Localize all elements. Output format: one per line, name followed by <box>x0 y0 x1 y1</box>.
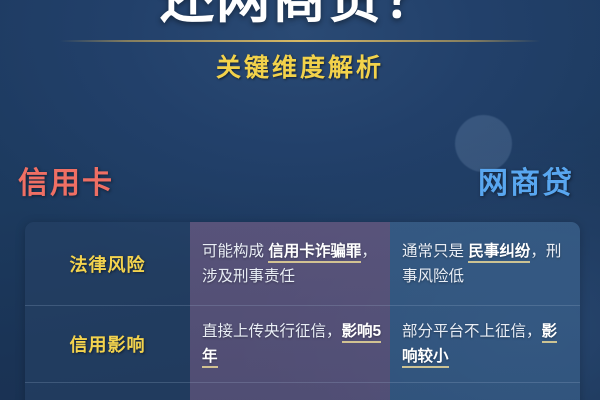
side-label-wangshangdai: 网商贷 <box>478 158 574 202</box>
cell-text-plain: 部分平台不上征信， <box>402 323 542 340</box>
table-row: 利率普遍 <box>25 382 580 400</box>
row-label: 法律风险 <box>25 251 190 277</box>
cell-credit-card: 可能构成 信用卡诈骗罪，涉及刑事责任 <box>190 239 390 289</box>
cell-text-plain: 直接上传央行征信， <box>202 323 342 340</box>
cell-wangshangdai: 通常只是 民事纠纷，刑事风险低 <box>390 239 580 289</box>
table-row: 信用影响直接上传央行征信，影响5年部分平台不上征信，影响较小 <box>25 305 580 382</box>
table-row: 法律风险可能构成 信用卡诈骗罪，涉及刑事责任通常只是 民事纠纷，刑事风险低 <box>25 222 580 305</box>
cell-credit-card: 直接上传央行征信，影响5年 <box>190 319 390 369</box>
infographic-canvas: 还网商贷？ 关键维度解析 信用卡 网商贷 法律风险可能构成 信用卡诈骗罪，涉及刑… <box>0 0 600 400</box>
comparison-rows: 法律风险可能构成 信用卡诈骗罪，涉及刑事责任通常只是 民事纠纷，刑事风险低信用影… <box>25 222 580 400</box>
side-label-credit-card: 信用卡 <box>18 158 114 202</box>
gold-divider <box>60 40 540 42</box>
row-label: 信用影响 <box>25 331 190 357</box>
cell-text-plain: 通常只是 <box>402 243 468 260</box>
cell-text-highlight: 信用卡诈骗罪 <box>268 243 361 263</box>
page-subtitle: 关键维度解析 <box>0 48 600 84</box>
page-title: 还网商贷？ <box>0 0 600 30</box>
cell-wangshangdai: 部分平台不上征信，影响较小 <box>390 319 580 369</box>
comparison-table: 法律风险可能构成 信用卡诈骗罪，涉及刑事责任通常只是 民事纠纷，刑事风险低信用影… <box>25 222 580 400</box>
cell-text-highlight: 民事纠纷 <box>468 243 530 263</box>
cell-text-plain: 可能构成 <box>202 243 268 260</box>
